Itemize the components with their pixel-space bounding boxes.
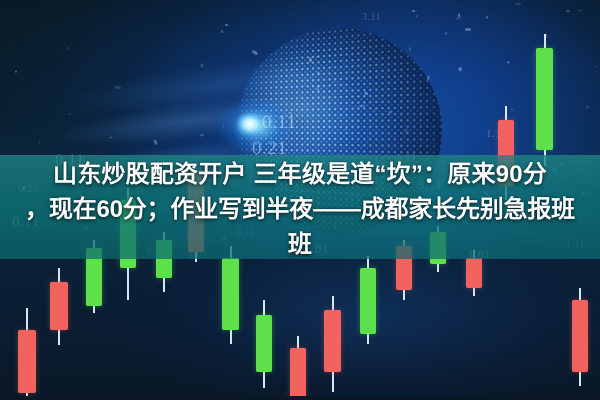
banner-image: 0.110.110.210.111.110.110.211.113.111.11… [0,0,600,400]
candle-body [360,268,376,334]
candle-body [222,258,239,330]
candle-body [256,315,272,372]
headline-line-1: 山东炒股配资开户 三年级是道“坎”：原来90分 [0,157,600,192]
headline-line-2: ，现在60分；作业写到半夜——成都家长先别急报班 [0,192,600,227]
candle-body [324,310,341,372]
candle-body [290,348,306,400]
headline-text: 山东炒股配资开户 三年级是道“坎”：原来90分 ，现在60分；作业写到半夜——成… [0,157,600,262]
candle-body [466,258,482,288]
candle-body [50,282,68,330]
bottom-edge-line [0,396,600,400]
candle-body [572,300,588,372]
candle-body [536,48,553,150]
candle-body [18,330,36,393]
headline-line-3: 班 [0,227,600,262]
